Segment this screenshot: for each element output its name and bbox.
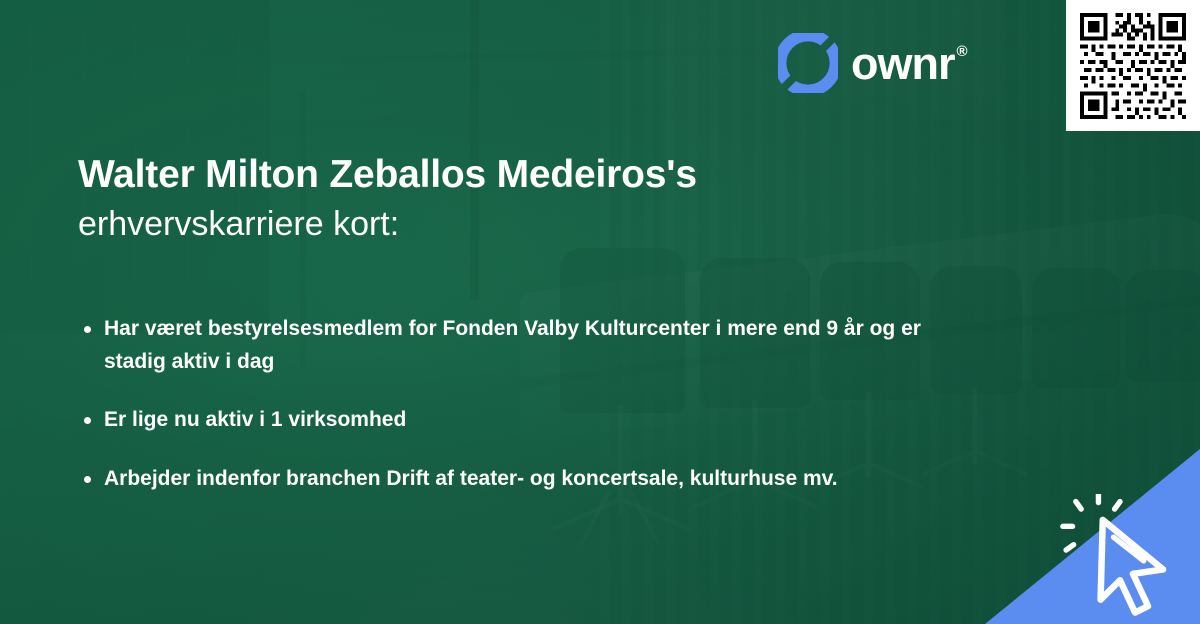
page-title: Walter Milton Zeballos Medeiros's erhver… xyxy=(78,152,978,246)
qr-code[interactable] xyxy=(1066,0,1200,131)
brand-name: ownr xyxy=(851,41,955,86)
qr-code-icon xyxy=(1076,9,1190,123)
registered-trademark-icon: ® xyxy=(957,44,967,59)
ownr-circular-mark-icon xyxy=(778,33,838,93)
business-career-card: ownr ® Walter Milton Zeballos Medeiros's… xyxy=(0,0,1200,624)
bullet-dot-icon xyxy=(84,476,91,483)
ownr-logo[interactable]: ownr ® xyxy=(778,33,967,93)
bullet-dot-icon xyxy=(84,417,91,424)
career-summary-list: Har været bestyrelsesmedlem for Fonden V… xyxy=(80,313,960,495)
list-item: Arbejder indenfor branchen Drift af teat… xyxy=(80,463,960,496)
bullet-dot-icon xyxy=(84,326,91,333)
list-item-label: Har været bestyrelsesmedlem for Fonden V… xyxy=(104,317,921,373)
list-item: Er lige nu aktiv i 1 virksomhed xyxy=(80,404,960,437)
click-cursor-icon[interactable] xyxy=(1054,494,1186,618)
ownr-wordmark: ownr ® xyxy=(851,41,967,86)
list-item: Har været bestyrelsesmedlem for Fonden V… xyxy=(80,313,960,378)
list-item-label: Arbejder indenfor branchen Drift af teat… xyxy=(104,467,838,490)
headline-person-name: Walter Milton Zeballos Medeiros's xyxy=(78,152,978,198)
list-item-label: Er lige nu aktiv i 1 virksomhed xyxy=(104,408,406,431)
headline-subtitle: erhvervskarriere kort: xyxy=(78,202,978,246)
